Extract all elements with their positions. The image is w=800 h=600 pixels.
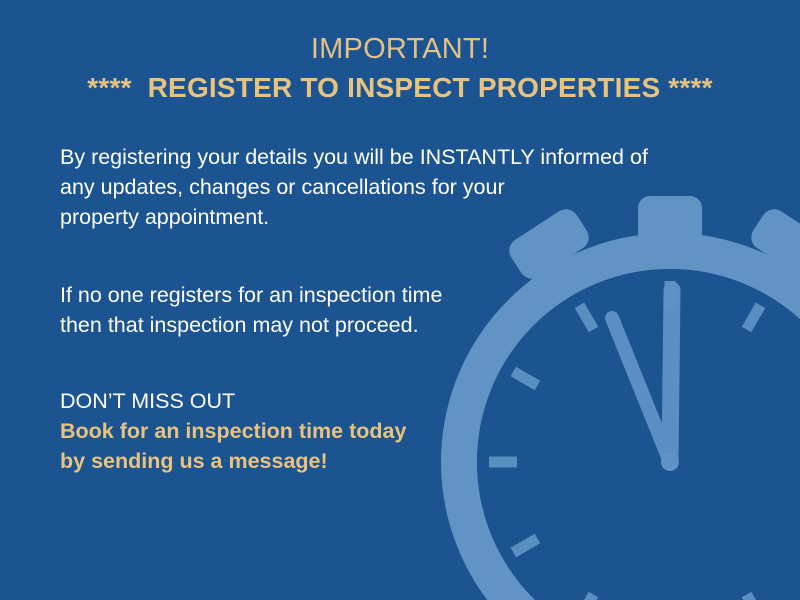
paragraph-registering-line-2: any updates, changes or cancellations fo… (60, 172, 720, 202)
cta-line-book-inspection: Book for an inspection time today (60, 416, 720, 446)
title-block: IMPORTANT! **** REGISTER TO INSPECT PROP… (0, 30, 800, 108)
paragraph-no-registration-line-2: then that inspection may not proceed. (60, 310, 720, 340)
cta-line-send-message: by sending us a message! (60, 446, 720, 476)
paragraph-registering-line-3: property appointment. (60, 202, 720, 232)
paragraph-registering: By registering your details you will be … (60, 142, 720, 232)
paragraph-no-registration-line-1: If no one registers for an inspection ti… (60, 280, 720, 310)
slide-content: IMPORTANT! **** REGISTER TO INSPECT PROP… (0, 0, 800, 600)
title-subtitle: **** REGISTER TO INSPECT PROPERTIES **** (0, 68, 800, 108)
body-block: By registering your details you will be … (60, 142, 720, 476)
title-main: IMPORTANT! (0, 30, 800, 68)
call-to-action-block: DON’T MISS OUT Book for an inspection ti… (60, 386, 720, 476)
paragraph-registering-line-1: By registering your details you will be … (60, 142, 720, 172)
paragraph-no-registration: If no one registers for an inspection ti… (60, 280, 720, 340)
cta-line-dont-miss-out: DON’T MISS OUT (60, 386, 720, 416)
slide-canvas: IMPORTANT! **** REGISTER TO INSPECT PROP… (0, 0, 800, 600)
